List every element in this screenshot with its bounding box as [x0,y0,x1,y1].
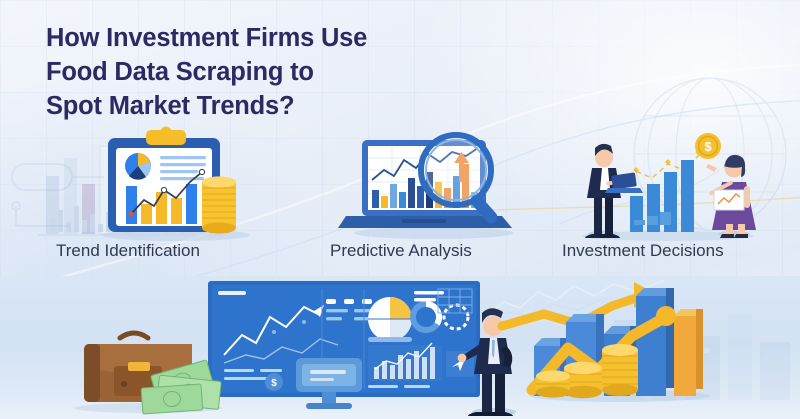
stage-label-investment-decisions: Investment Decisions [562,241,724,261]
page-title: How Investment Firms Use Food Data Scrap… [46,22,516,124]
illustration-investment-decisions: $ [568,124,778,242]
desktop-monitor-icon [288,354,372,416]
coin-stack-icon [202,176,236,233]
businesswoman-icon [706,155,756,238]
stage-label-trend-identification: Trend Identification [56,241,200,261]
svg-text:$: $ [704,139,712,154]
dollar-badge: $ [265,373,283,391]
title-line-1: How Investment Firms Use [46,22,516,56]
illustration-trend-identification [84,126,274,241]
stage-label-predictive-analysis: Predictive Analysis [330,241,472,261]
briefcase-and-cash [62,322,234,414]
pie-chart [368,297,412,341]
title-line-2: Food Data Scraping to [46,56,516,90]
dollar-coin-icon: $ [695,133,721,159]
illustration-predictive-analysis [336,130,536,240]
growth-chart-scene [508,278,728,403]
chart-sheet-icon [714,190,744,210]
infographic-banner: How Investment Firms Use Food Data Scrap… [0,0,800,419]
bottom-scene: $ [0,276,800,419]
svg-text:$: $ [271,378,277,389]
title-line-3: Spot Market Trends? [46,90,516,124]
